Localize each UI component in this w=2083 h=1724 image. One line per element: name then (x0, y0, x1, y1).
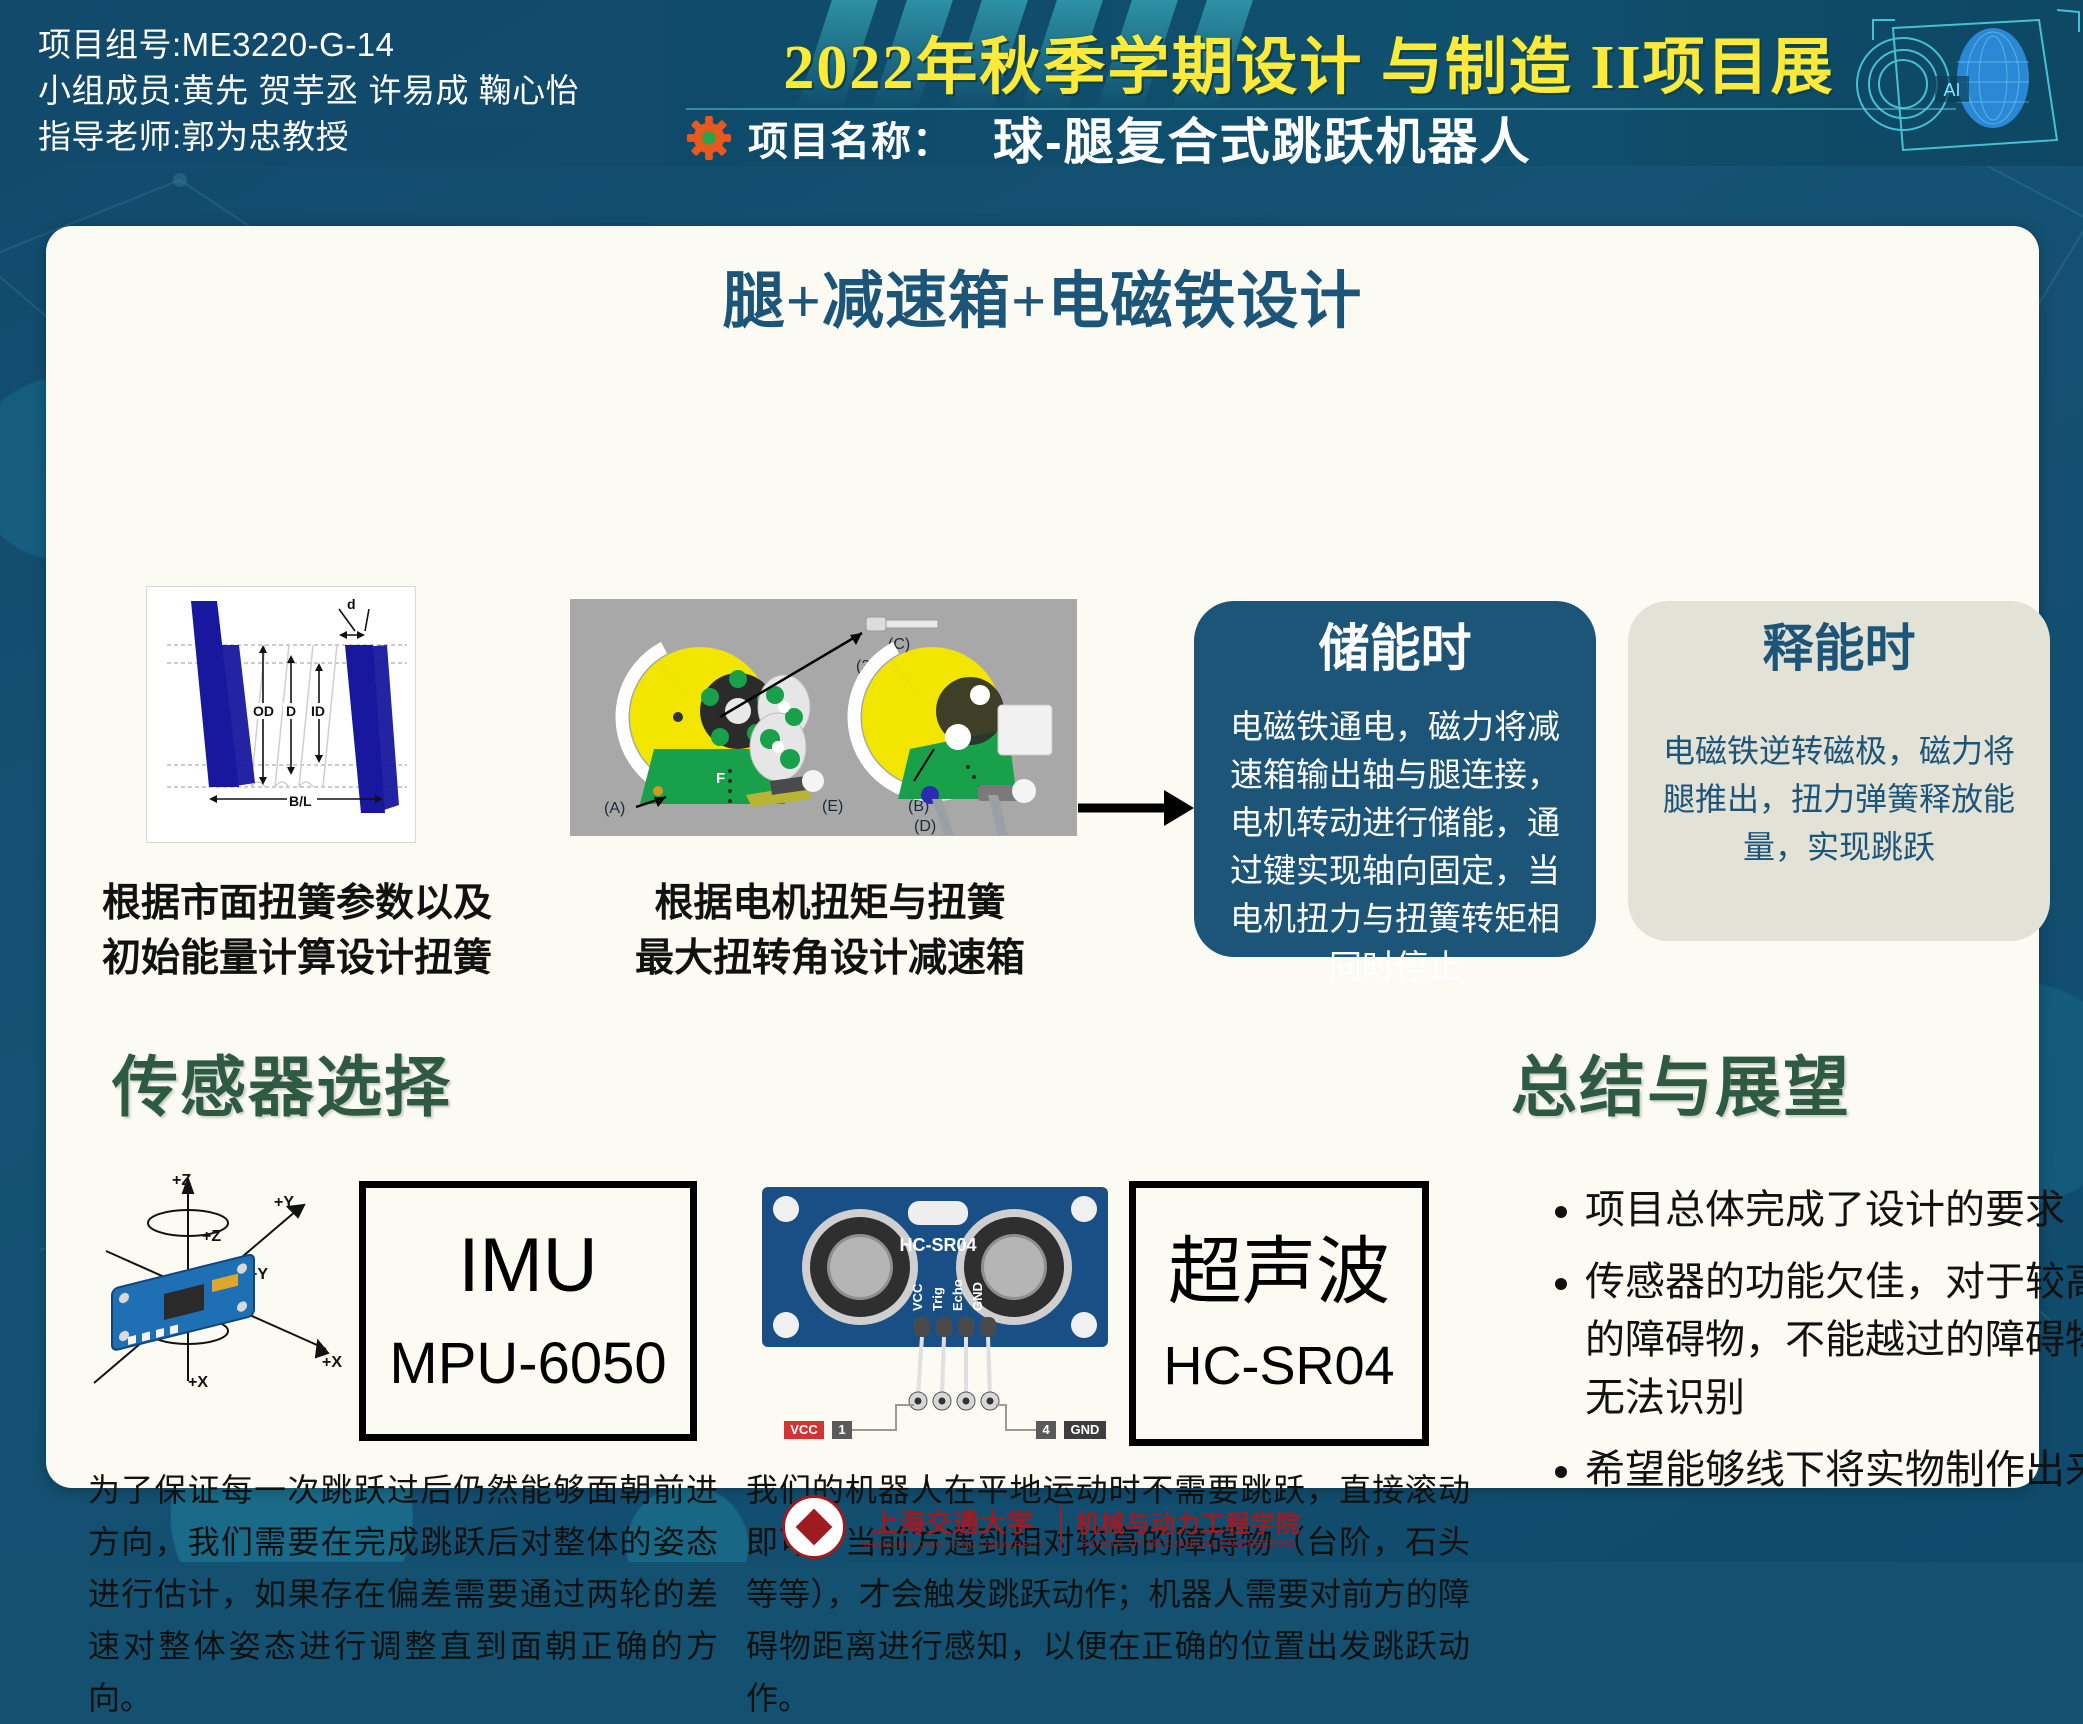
svg-text:F: F (716, 770, 725, 787)
poster-header: 项目组号:ME3220-G-14 小组成员:黄先 贺芋丞 许易成 鞠心怡 指导老… (0, 0, 2083, 166)
spring-caption-line2: 初始能量计算设计扭簧 (62, 931, 532, 986)
right-arrow-icon (1076, 786, 1196, 830)
gearbox-caption: 根据电机扭矩与扭簧 最大扭转角设计减速箱 (600, 876, 1060, 986)
imu-label-box: IMU MPU-6050 (359, 1181, 697, 1441)
footer-divider (1060, 1506, 1062, 1548)
project-name-value: 球-腿复合式跳跃机器人 (969, 102, 1532, 166)
advisor: 指导老师:郭为忠教授 (38, 114, 664, 160)
energy-release-box: 释能时 电磁铁逆转磁极，磁力将腿推出，扭力弹簧释放能量，实现跳跃 (1628, 601, 2050, 941)
banner-title: 2022年秋季学期设计 与制造 II项目展 (664, 16, 1954, 106)
svg-text:ID: ID (311, 703, 325, 719)
imu-model: MPU-6050 (389, 1329, 666, 1399)
svg-text:OD: OD (253, 703, 274, 719)
svg-text:+Z: +Z (202, 1228, 221, 1245)
poster-footer: 上海交通大学 SHANGHAI JIAO TONG UNIVERSITY 机械与… (0, 1492, 2083, 1562)
university-name: 上海交通大学 (872, 1503, 1034, 1540)
svg-text:+X: +X (322, 1354, 342, 1371)
project-name-label: 项目名称： (748, 109, 953, 166)
svg-text:1: 1 (838, 1422, 845, 1437)
section-title-design: 腿+减速箱+电磁铁设计 (46, 250, 2039, 340)
ai-face-scan-icon: AI (1843, 0, 2083, 166)
svg-text:+X: +X (188, 1374, 208, 1391)
spring-caption-line1: 根据市面扭簧参数以及 (62, 876, 532, 931)
svg-text:VCC: VCC (910, 1283, 925, 1311)
summary-bullet-list: 项目总体完成了设计的要求 传感器的功能欠佳，对于较高的障碍物，不能越过的障碍物无… (1541, 1181, 2083, 1513)
header-banner: 2022年秋季学期设计 与制造 II项目展 (664, 0, 2083, 166)
svg-text:VCC: VCC (790, 1422, 818, 1437)
sjtu-seal-icon (782, 1495, 846, 1559)
gear-icon (686, 115, 732, 161)
university-name-en: SHANGHAI JIAO TONG UNIVERSITY (860, 1540, 1046, 1551)
header-info-block: 项目组号:ME3220-G-14 小组成员:黄先 贺芋丞 许易成 鞠心怡 指导老… (0, 0, 664, 166)
hc-sr04-module-diagram: HC-SR04 VCC Trig Echo GND VCC 1 4 GND (756, 1181, 1126, 1446)
project-name-row: 项目名称： 球-腿复合式跳跃机器人 (686, 108, 1956, 166)
svg-text:(D): (D) (914, 818, 936, 835)
svg-text:(E): (E) (822, 798, 843, 815)
svg-text:4: 4 (1042, 1422, 1050, 1437)
svg-text:Echo: Echo (950, 1279, 965, 1311)
energy-storage-box: 储能时 电磁铁通电，磁力将减速箱输出轴与腿连接，电机转动进行储能，通过键实现轴向… (1194, 601, 1596, 957)
spring-caption: 根据市面扭簧参数以及 初始能量计算设计扭簧 (62, 876, 532, 986)
ultrasonic-label-box: 超声波 HC-SR04 (1129, 1181, 1429, 1446)
ultrasonic-model: HC-SR04 (1163, 1333, 1394, 1399)
energy-release-title: 释能时 (1652, 617, 2026, 681)
svg-text:D: D (286, 703, 296, 719)
project-group-number: 项目组号:ME3220-G-14 (38, 22, 664, 68)
hc-sr04-silk-label: HC-SR04 (899, 1235, 976, 1255)
energy-storage-title: 储能时 (1216, 617, 1574, 681)
svg-text:Trig: Trig (930, 1287, 945, 1311)
gearbox-caption-line2: 最大扭转角设计减速箱 (600, 931, 1060, 986)
imu-axes-diagram: +Z+Z +Y+Y +X+X (76, 1171, 356, 1411)
section-title-sensors: 传感器选择 (112, 1034, 452, 1130)
torsion-spring-diagram: OD D ID B/L d (146, 586, 416, 843)
list-item: 项目总体完成了设计的要求 (1585, 1181, 2083, 1239)
gearbox-caption-line1: 根据电机扭矩与扭簧 (600, 876, 1060, 931)
ultrasonic-name: 超声波 (1168, 1229, 1390, 1315)
imu-name: IMU (458, 1223, 597, 1309)
svg-text:+Z: +Z (172, 1172, 191, 1189)
school-name-en: SCHOOL OF MECHANICAL ENGINEERING (1081, 1539, 1296, 1550)
poster-main-panel: 腿+减速箱+电磁铁设计 OD D ID B (46, 226, 2039, 1488)
energy-release-body: 电磁铁逆转磁极，磁力将腿推出，扭力弹簧释放能量，实现跳跃 (1652, 727, 2026, 871)
svg-text:d: d (347, 596, 356, 612)
gearbox-exploded-diagram: F (C)(3) (2)(1) (A)(B) (570, 599, 1077, 836)
svg-text:+Y: +Y (274, 1194, 294, 1211)
school-name: 机械与动力工程学院 (1076, 1504, 1301, 1539)
team-members: 小组成员:黄先 贺芋丞 许易成 鞠心怡 (38, 68, 664, 114)
svg-text:GND: GND (1071, 1422, 1100, 1437)
svg-text:AI: AI (1943, 80, 1960, 100)
svg-text:B/L: B/L (289, 793, 312, 809)
svg-text:(A): (A) (604, 800, 625, 817)
svg-text:GND: GND (970, 1282, 985, 1311)
list-item: 传感器的功能欠佳，对于较高的障碍物，不能越过的障碍物无法识别 (1585, 1253, 2083, 1427)
energy-storage-body: 电磁铁通电，磁力将减速箱输出轴与腿连接，电机转动进行储能，通过键实现轴向固定，当… (1216, 703, 1574, 991)
list-item: 希望能够线下将实物制作出来 (1585, 1441, 2083, 1499)
section-title-summary: 总结与展望 (1511, 1034, 1851, 1130)
